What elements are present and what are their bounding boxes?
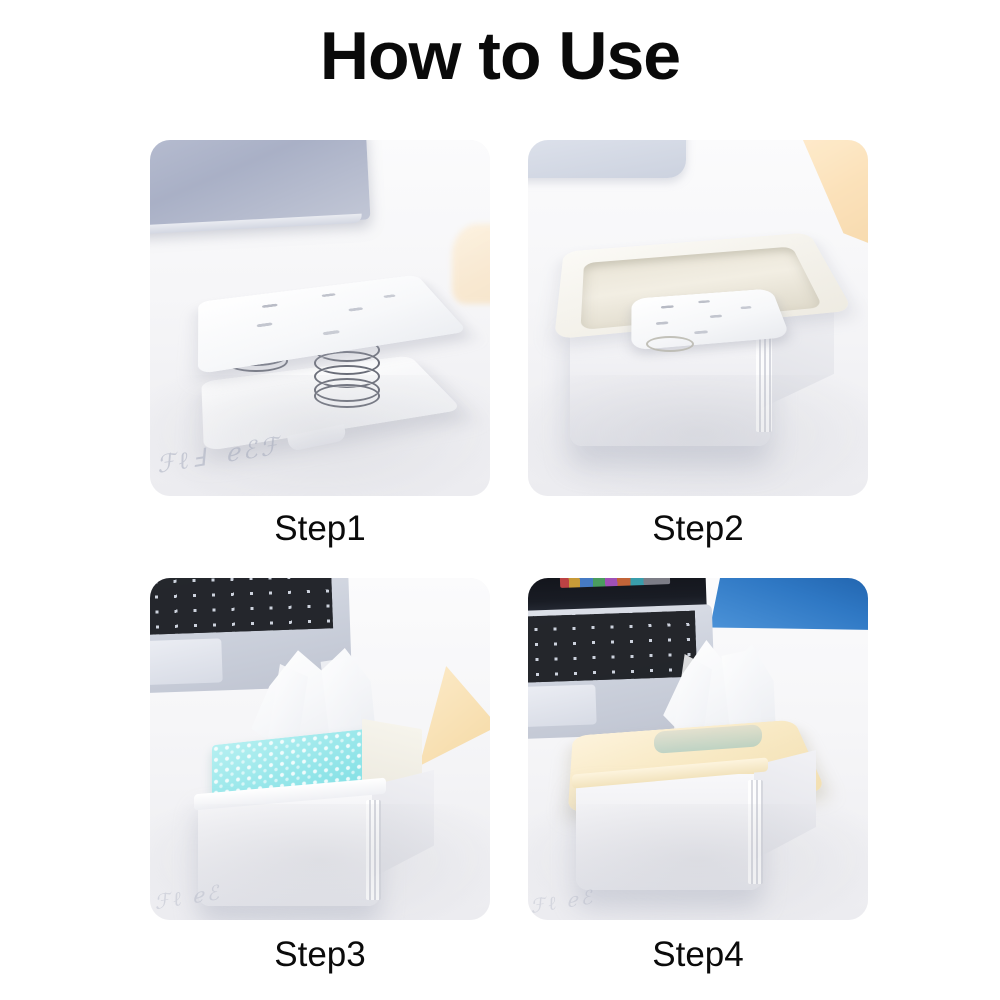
tissue-pack-loaded-photo: ℱℓ ℯℰ <box>150 578 490 920</box>
how-to-use-infographic: How to Use <box>0 0 1000 1000</box>
spring-plate-assembly-photo: ℱℓℲ ℯℰℱ <box>150 140 490 496</box>
laptop-trackpad <box>150 638 223 685</box>
finished-tissue-box-photo: ℱℓ ℯℰ <box>528 578 868 920</box>
spring-under-plate <box>646 336 694 352</box>
laptop-trackpad <box>528 684 597 727</box>
warm-paper-glow <box>452 224 490 304</box>
plate-inside-box-photo <box>528 140 868 496</box>
step-image-3[interactable]: ℱℓ ℯℰ <box>150 578 490 920</box>
laptop-corner <box>528 140 686 178</box>
step-cell-2: Step2 <box>528 140 868 549</box>
step-image-4[interactable]: ℱℓ ℯℰ <box>528 578 868 920</box>
page-title: How to Use <box>0 22 1000 90</box>
step-label-3: Step3 <box>150 936 490 975</box>
desk-shadow <box>150 375 490 496</box>
step-cell-4: ℱℓ ℯℰ Step4 <box>528 578 868 975</box>
step-label-4: Step4 <box>528 936 868 975</box>
steps-grid: ℱℓℲ ℯℰℱ Step1 <box>150 140 868 950</box>
desk-shadow <box>528 375 868 496</box>
step-label-2: Step2 <box>528 510 868 549</box>
step-image-2[interactable] <box>528 140 868 496</box>
laptop-keyboard <box>150 578 333 636</box>
step-label-1: Step1 <box>150 510 490 549</box>
laptop-keyboard <box>528 611 697 684</box>
blue-band <box>710 578 868 630</box>
step-image-1[interactable]: ℱℓℲ ℯℰℱ <box>150 140 490 496</box>
step-cell-1: ℱℓℲ ℯℰℱ Step1 <box>150 140 490 549</box>
step-cell-3: ℱℓ ℯℰ Step3 <box>150 578 490 975</box>
